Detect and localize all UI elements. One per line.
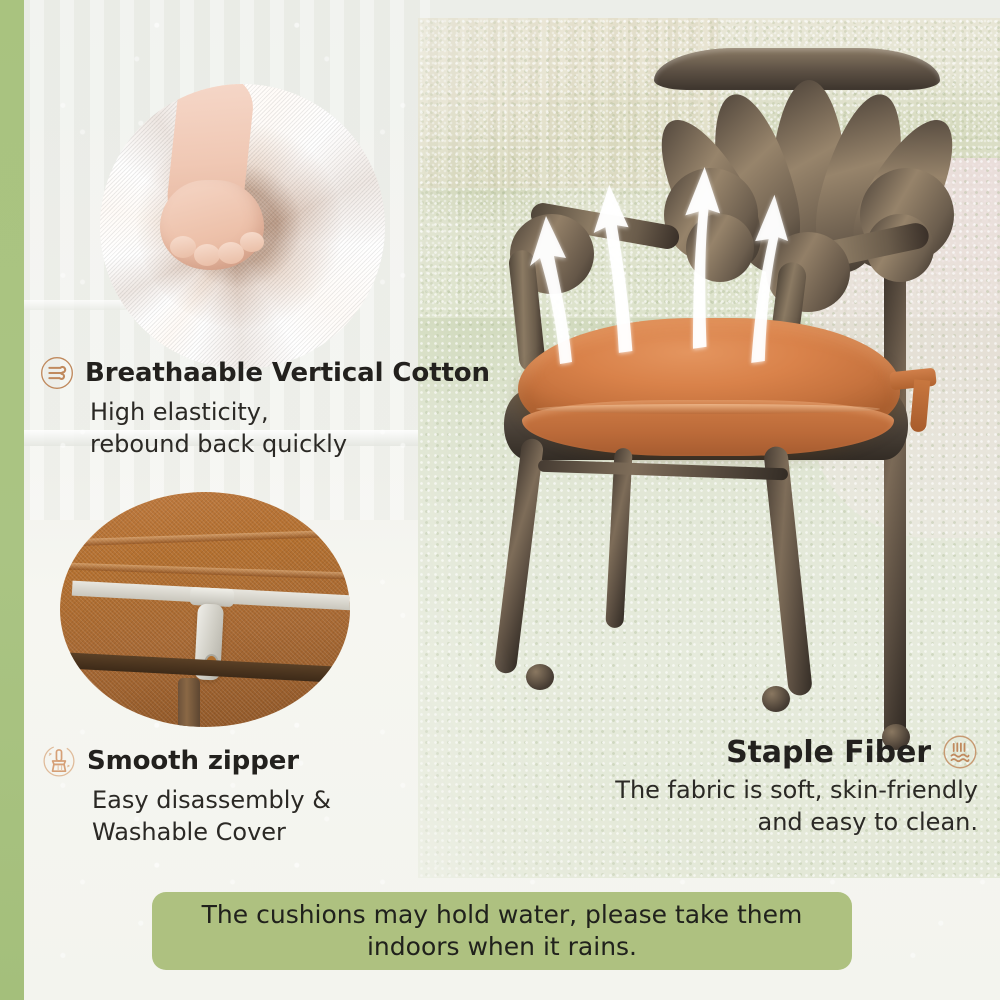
cleaning-brush-icon xyxy=(42,744,76,778)
table-leg-background xyxy=(178,678,200,727)
inset-press-test-photo xyxy=(100,84,385,369)
feature-breathable-header: Breathaable Vertical Cotton xyxy=(40,356,490,390)
chair-leg-front-left xyxy=(494,438,545,675)
feature-breathable-title: Breathaable Vertical Cotton xyxy=(85,358,490,388)
seat-cushion-seam xyxy=(536,404,880,414)
chair-foot-front-left xyxy=(526,664,554,690)
chair-foot-front-right xyxy=(762,686,790,712)
feature-zipper-line-2: Washable Cover xyxy=(92,816,331,848)
cushion-tie-tail xyxy=(910,379,930,432)
feature-breathable-body: High elasticity, rebound back quickly xyxy=(90,396,490,460)
feature-staple-fiber-title: Staple Fiber xyxy=(726,735,931,770)
feature-zipper-header: Smooth zipper xyxy=(42,744,331,778)
feature-staple-fiber: Staple Fiber The fabric is soft, skin-fr… xyxy=(615,734,978,838)
chair-stretcher xyxy=(538,460,788,481)
product-infographic: Breathaable Vertical Cotton High elastic… xyxy=(0,0,1000,1000)
chair-back-post-right xyxy=(884,268,906,738)
care-notice-line-1: The cushions may hold water, please take… xyxy=(202,899,803,932)
care-notice-banner: The cushions may hold water, please take… xyxy=(152,892,852,970)
feature-zipper: Smooth zipper Easy disassembly & Washabl… xyxy=(42,744,331,848)
airflow-arrow-2 xyxy=(586,168,644,358)
chair-leg-front-right xyxy=(763,445,813,696)
knuckle-1 xyxy=(170,236,196,258)
inset-zipper-photo xyxy=(60,492,350,727)
feature-staple-fiber-line-2: and easy to clean. xyxy=(615,806,978,838)
care-notice-line-2: indoors when it rains. xyxy=(202,931,803,964)
feature-breathable: Breathaable Vertical Cotton High elastic… xyxy=(40,356,490,460)
knuckle-4 xyxy=(240,232,264,252)
airflow-lines-icon xyxy=(40,356,74,390)
fabric-water-icon xyxy=(942,734,978,770)
feature-breathable-line-2: rebound back quickly xyxy=(90,428,490,460)
feature-zipper-title: Smooth zipper xyxy=(87,746,299,776)
feature-staple-fiber-header: Staple Fiber xyxy=(615,734,978,770)
feature-breathable-line-1: High elasticity, xyxy=(90,396,490,428)
feature-zipper-body: Easy disassembly & Washable Cover xyxy=(92,784,331,848)
knuckle-2 xyxy=(194,244,220,266)
feature-staple-fiber-line-1: The fabric is soft, skin-friendly xyxy=(615,774,978,806)
airflow-arrow-4 xyxy=(730,178,788,368)
care-notice-text: The cushions may hold water, please take… xyxy=(184,899,821,964)
left-accent-rail xyxy=(0,0,24,1000)
chair-backrest-top-rail xyxy=(654,48,940,90)
feature-zipper-line-1: Easy disassembly & xyxy=(92,784,331,816)
chair-collar-right-2 xyxy=(880,470,910,486)
feature-staple-fiber-body: The fabric is soft, skin-friendly and ea… xyxy=(615,774,978,838)
airflow-arrow-1 xyxy=(526,196,586,366)
airflow-arrow-3 xyxy=(664,154,722,354)
